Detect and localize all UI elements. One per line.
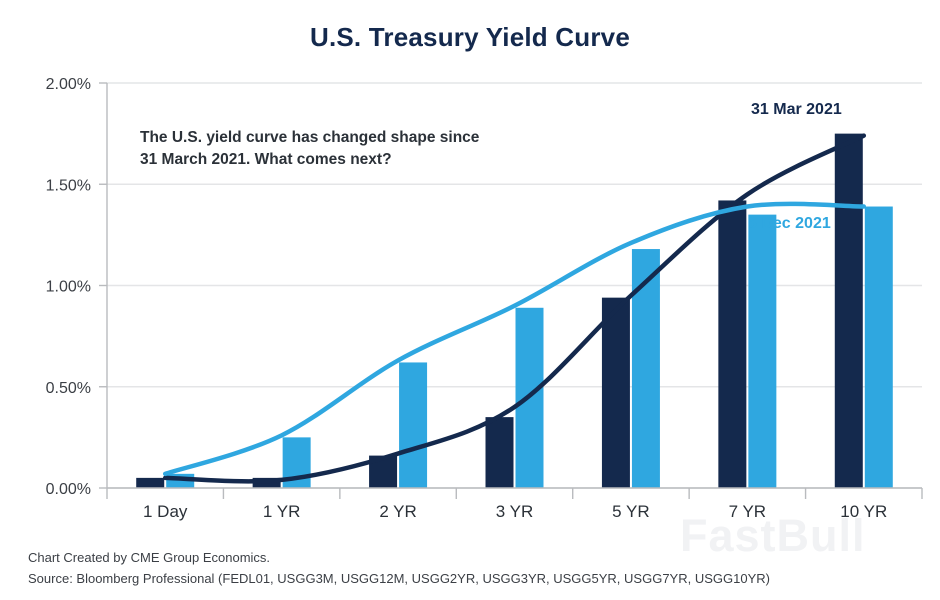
bar [136,478,164,488]
series-label-31-mar-2021: 31 Mar 2021 [751,101,842,119]
y-axis-tick-label: 1.50% [46,177,91,194]
footer-source-line: Source: Bloomberg Professional (FEDL01, … [28,569,770,590]
x-axis-group: 1 Day1 YR2 YR3 YR5 YR7 YR10 YR [107,488,922,521]
y-axis-tick-label: 0.50% [46,380,91,397]
x-axis-tick-label: 10 YR [840,502,887,521]
y-axis-tick-label: 1.00% [46,279,91,296]
y-axis-tick-label: 2.00% [46,76,91,93]
bars-group [136,134,893,488]
bar [865,207,893,488]
bar [748,215,776,488]
x-axis-tick-label: 3 YR [496,502,534,521]
series-label-6-dec-2021: 6 Dec 2021 [748,215,831,233]
x-axis-tick-label: 2 YR [379,502,417,521]
y-axis-tick-label: 0.00% [46,481,91,498]
bar [718,200,746,488]
chart-footer: Chart Created by CME Group Economics. So… [28,548,770,590]
x-axis-tick-label: 5 YR [612,502,650,521]
bar [632,249,660,488]
chart-plot-area: 0.00%0.50%1.00%1.50%2.00% 1 Day1 YR2 YR3… [0,0,940,600]
x-axis-tick-label: 1 YR [263,502,301,521]
bar [399,362,427,488]
x-axis-tick-label: 7 YR [729,502,767,521]
gridlines-group [107,83,922,488]
y-axis-group: 0.00%0.50%1.00%1.50%2.00% [46,76,107,498]
chart-container: U.S. Treasury Yield Curve The U.S. yield… [0,0,940,600]
x-axis-tick-label: 1 Day [143,502,188,521]
bar [835,134,863,488]
bar [486,417,514,488]
bar [602,298,630,488]
footer-credit-line: Chart Created by CME Group Economics. [28,548,770,569]
